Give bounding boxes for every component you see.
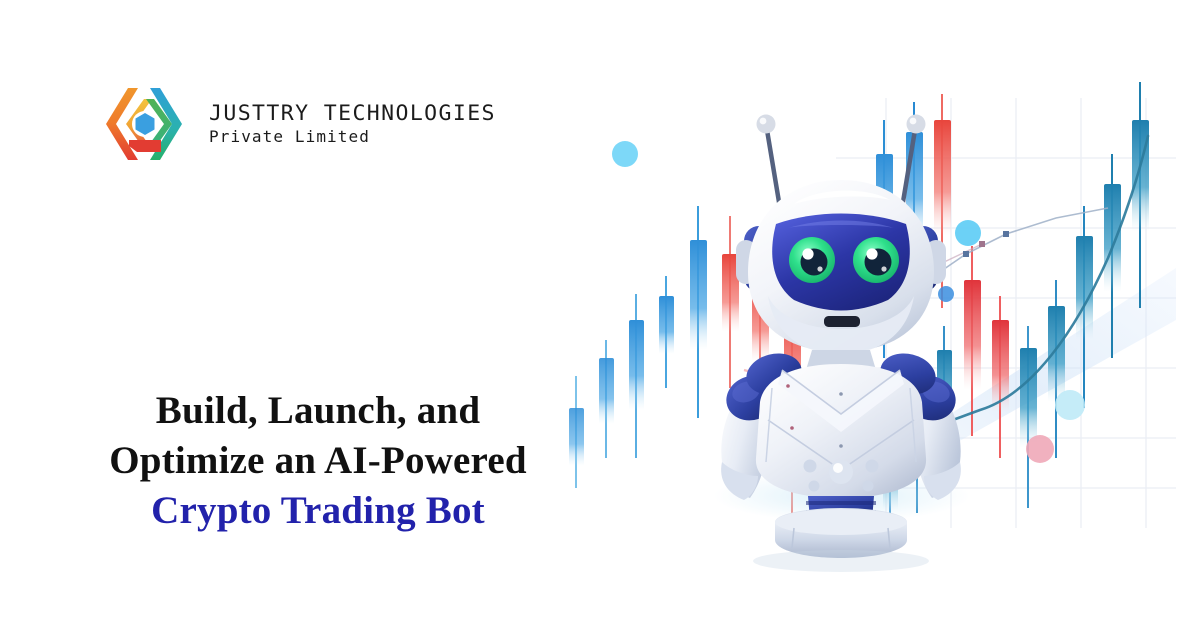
justtry-hexagon-chevron-logo-icon [97, 84, 193, 164]
banner-canvas: JUSTTRY TECHNOLOGIES Private Limited Bui… [0, 0, 1200, 630]
ai-crypto-trading-robot-with-candlestick-charts-icon [536, 58, 1176, 578]
company-name: JUSTTRY TECHNOLOGIES [209, 103, 496, 125]
circle-cyan-right-icon [955, 220, 981, 246]
robot-chest-button-lower-right [863, 481, 874, 492]
robot-chest-button-lower-left [809, 481, 820, 492]
company-suffix: Private Limited [209, 129, 496, 145]
company-logo[interactable]: JUSTTRY TECHNOLOGIES Private Limited [97, 84, 496, 164]
robot-eye-left [789, 237, 835, 283]
robot-chest-button-upper-left [804, 460, 817, 473]
hero-illustration [536, 58, 1176, 578]
logo-wordmark: JUSTTRY TECHNOLOGIES Private Limited [209, 103, 496, 146]
robot-mouth [824, 316, 860, 327]
circle-cyan-top-left-icon [612, 141, 638, 167]
circle-pink-bottom-icon [1026, 435, 1054, 463]
node-blue-network-icon [938, 286, 954, 302]
robot-eye-right [853, 237, 899, 283]
robot-head [748, 180, 934, 354]
robot-torso [756, 364, 926, 498]
robot-chest-button-upper-right [866, 460, 879, 473]
circle-cyan-pale-lower-right-icon [1055, 390, 1085, 420]
